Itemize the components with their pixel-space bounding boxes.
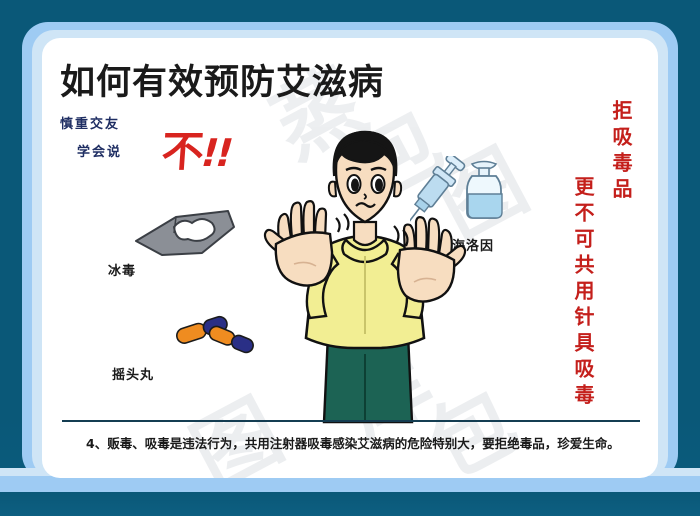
vertical-slogan-right: 拒吸毒品: [607, 100, 636, 204]
refusal-shout: 不!!: [160, 118, 233, 179]
meth-packet-icon: [130, 203, 240, 263]
ecstasy-capsules-icon: [172, 306, 262, 356]
poster-canvas: 蒸 包 图 库 包 图 如何有效预防艾滋病 慎重交友 学会说 不!! 冰毒: [42, 38, 658, 478]
bottom-band-dark: [0, 492, 700, 516]
refusal-shout-char: 不: [160, 127, 203, 176]
cartoon-boy-refusing-illustration: [250, 126, 480, 426]
label-ice-drug: 冰毒: [108, 260, 136, 279]
vertical-slogan-left: 更不可共用针具吸毒: [569, 176, 598, 410]
refusal-shout-marks: !!: [200, 131, 232, 175]
note-divider: [62, 420, 640, 422]
label-ecstasy-drug: 摇头丸: [112, 364, 154, 383]
slogan-line-two: 学会说: [77, 141, 122, 160]
slogan-line-one: 慎重交友: [60, 113, 120, 132]
poster-root: 蒸 包 图 库 包 图 如何有效预防艾滋病 慎重交友 学会说 不!! 冰毒: [0, 0, 700, 516]
footer-note: 4、贩毒、吸毒是违法行为，共用注射器吸毒感染艾滋病的危险特别大，要拒绝毒品，珍爱…: [64, 432, 638, 456]
page-title: 如何有效预防艾滋病: [60, 54, 384, 105]
